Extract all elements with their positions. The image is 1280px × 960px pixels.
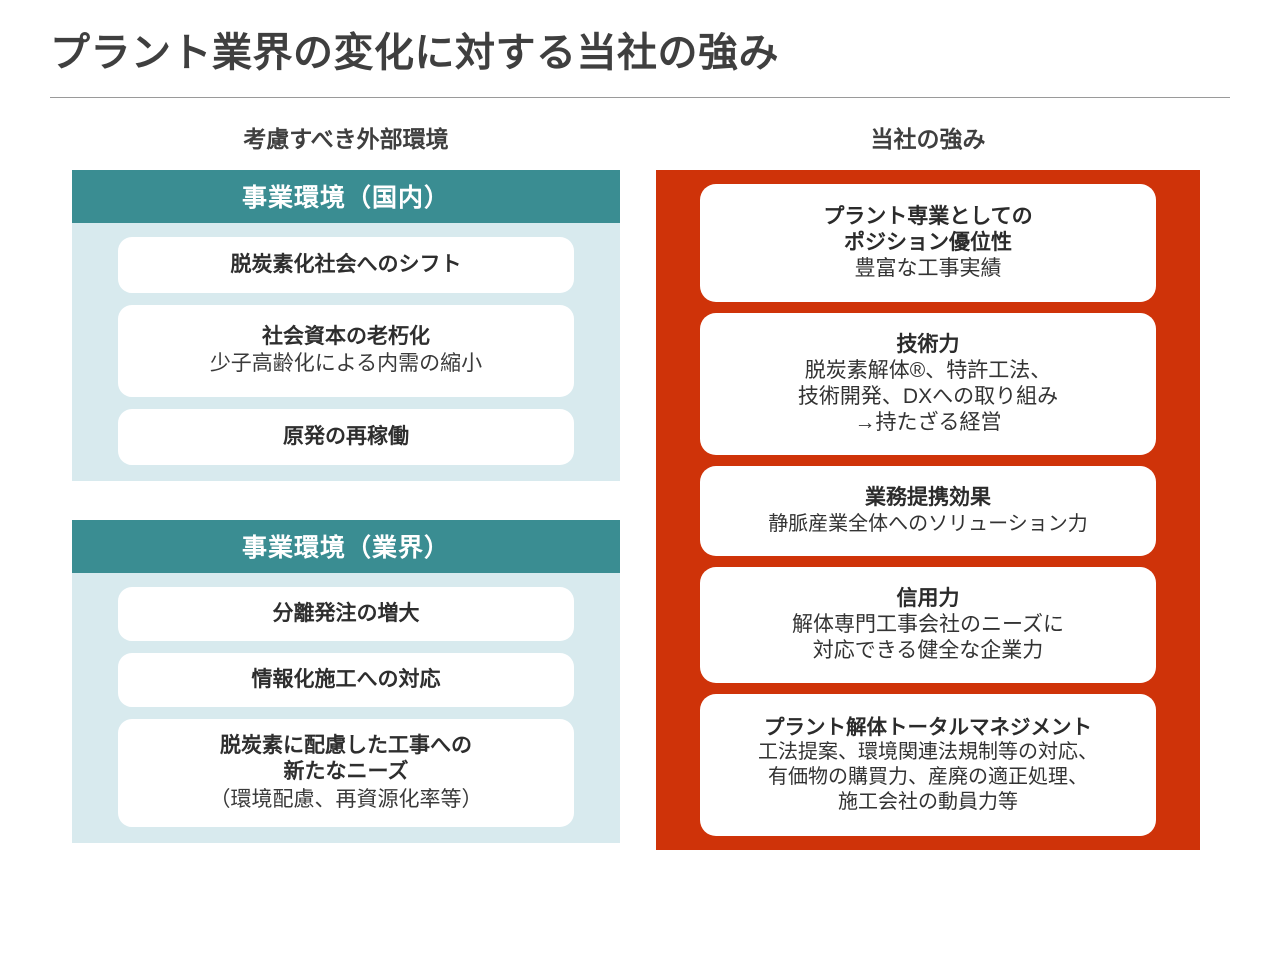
panel-header-domestic: 事業環境（国内）	[72, 170, 620, 223]
strength-card-creditworthiness[interactable]: 信用力 解体専門工事会社のニーズに 対応できる健全な企業力	[700, 567, 1156, 683]
left-column-heading: 考慮すべき外部環境	[72, 120, 620, 154]
strength-headline-line2: ポジション優位性	[706, 230, 1150, 256]
strength-sub-line1: 解体専門工事会社のニーズに	[706, 612, 1150, 638]
strength-headline-line1: プラント解体トータルマネジメント	[706, 715, 1150, 740]
card-headline: 分離発注の増大	[128, 601, 564, 627]
card-infrastructure-aging[interactable]: 社会資本の老朽化 少子高齢化による内需の縮小	[118, 305, 574, 397]
strength-sub-line2: 技術開発、DXへの取り組み	[706, 384, 1150, 410]
strength-headline-line1: 業務提携効果	[706, 485, 1150, 511]
card-sub: （環境配慮、再資源化率等）	[128, 786, 564, 813]
card-decarbonization-shift[interactable]: 脱炭素化社会へのシフト	[118, 237, 574, 293]
strength-card-position-advantage[interactable]: プラント専業としての ポジション優位性 豊富な工事実績	[700, 184, 1156, 302]
right-column-heading: 当社の強み	[656, 120, 1200, 154]
strengths-container: プラント専業としての ポジション優位性 豊富な工事実績 技術力 脱炭素解体®、特…	[656, 170, 1200, 850]
card-headline: 脱炭素化社会へのシフト	[128, 252, 564, 278]
strength-sub-line1: 脱炭素解体®、特許工法、	[706, 358, 1150, 384]
card-headline: 社会資本の老朽化	[128, 324, 564, 350]
strength-sub-line1: 豊富な工事実績	[706, 256, 1150, 282]
card-headline: 原発の再稼働	[128, 424, 564, 450]
panel-body-domestic: 脱炭素化社会へのシフト 社会資本の老朽化 少子高齢化による内需の縮小 原発の再稼…	[72, 223, 620, 481]
strength-card-technology[interactable]: 技術力 脱炭素解体®、特許工法、 技術開発、DXへの取り組み →持たざる経営	[700, 313, 1156, 455]
strength-headline-line1: 信用力	[706, 586, 1150, 612]
strength-sub-line2: 有価物の購買力、産廃の適正処理、	[706, 765, 1150, 790]
card-nuclear-restart[interactable]: 原発の再稼働	[118, 409, 574, 465]
card-headline-line1: 脱炭素に配慮した工事への	[128, 733, 564, 759]
panel-business-environment-domestic: 事業環境（国内） 脱炭素化社会へのシフト 社会資本の老朽化 少子高齢化による内需…	[72, 170, 620, 481]
slide-footer: BESTERRA Copyright © BESTERRA CO., LTD A…	[0, 850, 1280, 960]
strength-card-partnership[interactable]: 業務提携効果 静脈産業全体へのソリューション力	[700, 466, 1156, 556]
page-title: プラント業界の変化に対する当社の強み	[50, 20, 779, 78]
card-headline: 情報化施工への対応	[128, 667, 564, 693]
strength-sub-line1: 静脈産業全体へのソリューション力	[706, 512, 1150, 537]
card-decarbonization-needs[interactable]: 脱炭素に配慮した工事への 新たなニーズ （環境配慮、再資源化率等）	[118, 719, 574, 827]
strength-sub-line1: 工法提案、環境関連法規制等の対応、	[706, 740, 1150, 765]
panel-header-industry: 事業環境（業界）	[72, 520, 620, 573]
strength-sub-line3: →持たざる経営	[706, 410, 1150, 436]
slide-root: プラント業界の変化に対する当社の強み 考慮すべき外部環境 事業環境（国内） 脱炭…	[0, 0, 1280, 960]
card-headline-line2: 新たなニーズ	[128, 759, 564, 785]
panel-body-industry: 分離発注の増大 情報化施工への対応 脱炭素に配慮した工事への 新たなニーズ （環…	[72, 573, 620, 843]
card-sub: 少子高齢化による内需の縮小	[128, 350, 564, 377]
card-separate-ordering[interactable]: 分離発注の増大	[118, 587, 574, 641]
strength-headline-line1: プラント専業としての	[706, 204, 1150, 230]
strength-sub-line2: 対応できる健全な企業力	[706, 638, 1150, 664]
strength-card-total-management[interactable]: プラント解体トータルマネジメント 工法提案、環境関連法規制等の対応、 有価物の購…	[700, 694, 1156, 836]
panel-business-environment-industry: 事業環境（業界） 分離発注の増大 情報化施工への対応 脱炭素に配慮した工事への …	[72, 520, 620, 843]
strength-sub-line3: 施工会社の動員力等	[706, 790, 1150, 815]
strength-headline-line1: 技術力	[706, 332, 1150, 358]
title-divider	[50, 97, 1230, 98]
card-ict-construction[interactable]: 情報化施工への対応	[118, 653, 574, 707]
